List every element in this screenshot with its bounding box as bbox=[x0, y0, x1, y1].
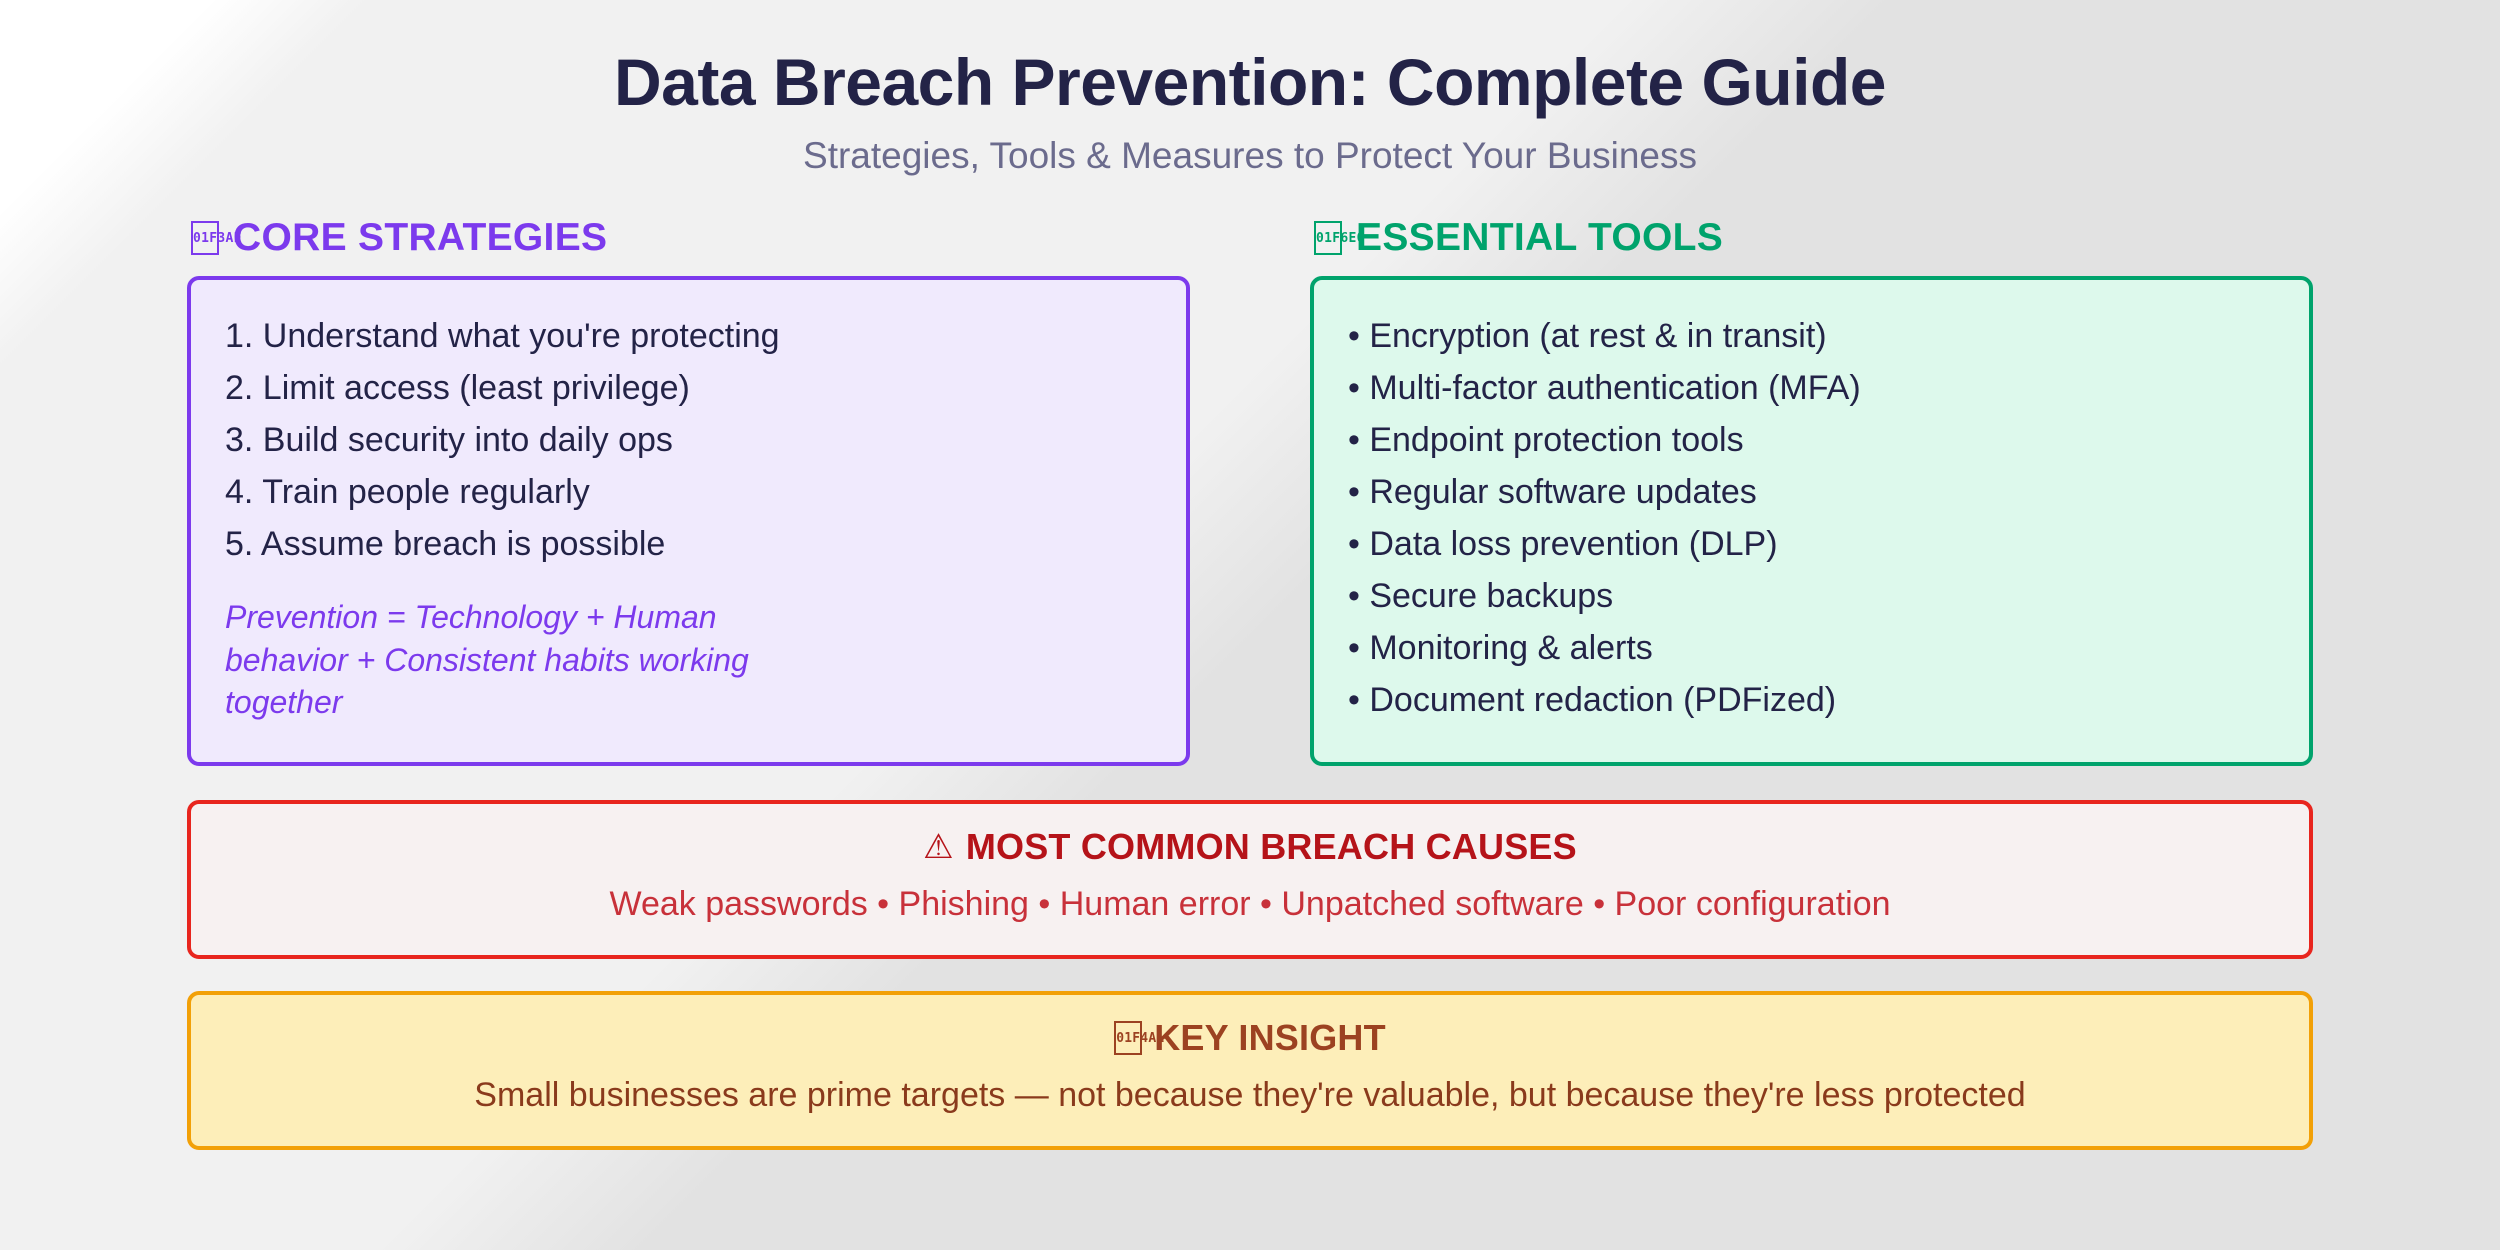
prevention-formula-note: Prevention = Technology + Human behavior… bbox=[225, 596, 825, 724]
infographic-canvas: Data Breach Prevention: Complete Guide S… bbox=[0, 0, 2500, 1250]
list-item: • Multi-factor authentication (MFA) bbox=[1348, 362, 2275, 414]
banner-heading-label: KEY INSIGHT bbox=[1154, 1017, 1386, 1059]
list-item: 2. Limit access (least privilege) bbox=[225, 362, 1152, 414]
list-item: 1. Understand what you're protecting bbox=[225, 310, 1152, 362]
section-heading-label: ESSENTIAL TOOLS bbox=[1356, 216, 1723, 260]
section-heading-label: CORE STRATEGIES bbox=[233, 216, 607, 260]
target-icon: 01F 3AF bbox=[191, 221, 219, 255]
hammer-and-wrench-icon: 01F 6E0 bbox=[1314, 221, 1342, 255]
list-item: • Regular software updates bbox=[1348, 466, 2275, 518]
list-item: 3. Build security into daily ops bbox=[225, 414, 1152, 466]
column-essential-tools: 01F 6E0 ESSENTIAL TOOLS • Encryption (at… bbox=[1310, 216, 2313, 766]
banner-heading-label: MOST COMMON BREACH CAUSES bbox=[966, 826, 1577, 868]
page-title: Data Breach Prevention: Complete Guide bbox=[187, 0, 2313, 120]
list-item: • Endpoint protection tools bbox=[1348, 414, 2275, 466]
list-item: • Monitoring & alerts bbox=[1348, 622, 2275, 674]
column-core-strategies: 01F 3AF CORE STRATEGIES 1. Understand wh… bbox=[187, 216, 1190, 766]
banner-body-text: Weak passwords • Phishing • Human error … bbox=[221, 884, 2279, 925]
card-core-strategies: 1. Understand what you're protecting 2. … bbox=[187, 276, 1190, 766]
warning-triangle-icon: ⚠ bbox=[923, 830, 954, 864]
section-heading-core-strategies: 01F 3AF CORE STRATEGIES bbox=[187, 216, 1190, 260]
card-essential-tools: • Encryption (at rest & in transit) • Mu… bbox=[1310, 276, 2313, 766]
section-heading-essential-tools: 01F 6E0 ESSENTIAL TOOLS bbox=[1310, 216, 2313, 260]
list-item: • Secure backups bbox=[1348, 570, 2275, 622]
list-item: • Data loss prevention (DLP) bbox=[1348, 518, 2275, 570]
banner-heading: ⚠ MOST COMMON BREACH CAUSES bbox=[221, 826, 2279, 868]
page-subtitle: Strategies, Tools & Measures to Protect … bbox=[187, 120, 2313, 178]
list-item: • Document redaction (PDFized) bbox=[1348, 674, 2275, 726]
banner-key-insight: 01F 4A1 KEY INSIGHT Small businesses are… bbox=[187, 991, 2313, 1150]
list-item: 4. Train people regularly bbox=[225, 466, 1152, 518]
banner-body-text: Small businesses are prime targets — not… bbox=[221, 1075, 2279, 1116]
banner-most-common-breach-causes: ⚠ MOST COMMON BREACH CAUSES Weak passwor… bbox=[187, 800, 2313, 959]
list-item: 5. Assume breach is possible bbox=[225, 518, 1152, 570]
light-bulb-icon: 01F 4A1 bbox=[1114, 1021, 1142, 1055]
banner-heading: 01F 4A1 KEY INSIGHT bbox=[221, 1017, 2279, 1059]
list-item: • Encryption (at rest & in transit) bbox=[1348, 310, 2275, 362]
two-column-area: 01F 3AF CORE STRATEGIES 1. Understand wh… bbox=[187, 216, 2313, 766]
